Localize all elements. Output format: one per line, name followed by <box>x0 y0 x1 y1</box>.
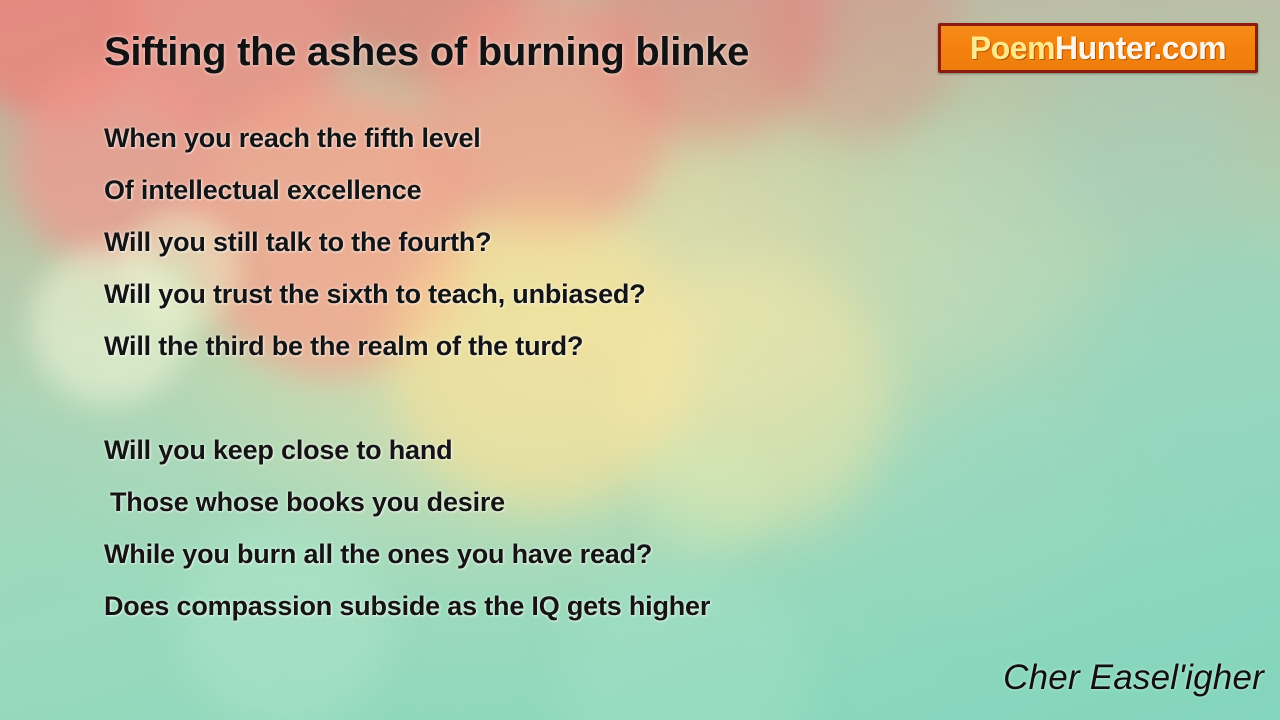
poem-line: When you reach the fifth level <box>104 112 984 164</box>
poem-line: Of intellectual excellence <box>104 164 984 216</box>
poem-poster: Sifting the ashes of burning blinke Poem… <box>0 0 1280 720</box>
poem-line: Does compassion subside as the IQ gets h… <box>104 580 984 632</box>
poem-author: Cher Easel'igher <box>1003 658 1264 698</box>
logo-brand-secondary: Hunter.com <box>1055 30 1226 66</box>
poem-title: Sifting the ashes of burning blinke <box>104 30 749 75</box>
poem-line: Will you trust the sixth to teach, unbia… <box>104 268 984 320</box>
logo-wordmark: PoemHunter.com <box>970 32 1226 64</box>
poem-line: Will the third be the realm of the turd? <box>104 320 984 372</box>
poem-line: Those whose books you desire <box>104 476 984 528</box>
poem-line: Will you keep close to hand <box>104 424 984 476</box>
logo-brand-primary: Poem <box>970 30 1055 66</box>
poem-line-spacer <box>104 372 984 424</box>
poemhunter-logo[interactable]: PoemHunter.com <box>938 23 1258 73</box>
poem-body: When you reach the fifth levelOf intelle… <box>104 112 984 632</box>
poem-line: Will you still talk to the fourth? <box>104 216 984 268</box>
poem-line: While you burn all the ones you have rea… <box>104 528 984 580</box>
